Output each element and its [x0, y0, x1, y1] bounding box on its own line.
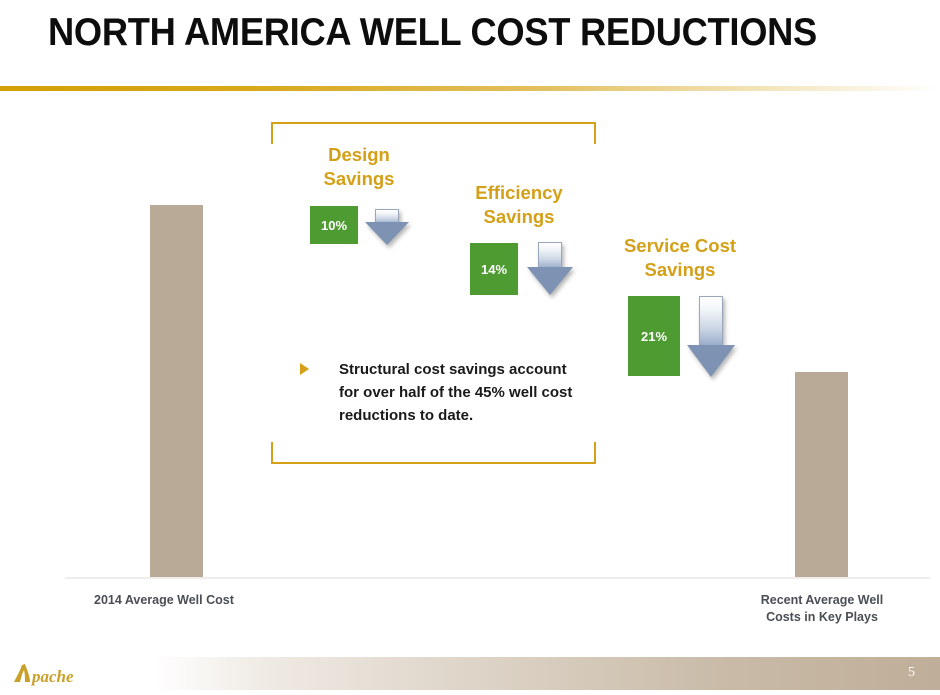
- design-savings-percent: 10%: [321, 218, 347, 233]
- bullet-item: Structural cost savings account for over…: [300, 358, 575, 427]
- bullet-text: Structural cost savings account for over…: [339, 358, 575, 427]
- design-savings-down-arrow-icon: [365, 209, 409, 245]
- axis-label-right-line2: Costs in Key Plays: [724, 609, 920, 626]
- efficiency-savings-title-line1: Efficiency: [468, 181, 570, 205]
- efficiency-savings-title: Efficiency Savings: [468, 181, 570, 229]
- arrow-head: [687, 345, 735, 377]
- axis-label-right: Recent Average Well Costs in Key Plays: [724, 592, 920, 626]
- arrow-head: [365, 222, 409, 245]
- design-savings-title: Design Savings: [313, 143, 405, 191]
- axis-label-left: 2014 Average Well Cost: [94, 592, 234, 609]
- efficiency-savings-percent-box: 14%: [470, 243, 518, 295]
- service-cost-savings-title-line1: Service Cost: [617, 234, 743, 258]
- bullet-triangle-icon: [300, 363, 309, 375]
- bar-2014-average-well-cost: [150, 205, 203, 577]
- bracket-bottom-line: [271, 462, 596, 464]
- efficiency-savings-percent: 14%: [481, 262, 507, 277]
- title-divider: [0, 86, 940, 91]
- service-cost-savings-percent-box: 21%: [628, 296, 680, 376]
- service-cost-savings-title: Service Cost Savings: [617, 234, 743, 282]
- design-savings-title-line1: Design: [313, 143, 405, 167]
- service-cost-savings-percent: 21%: [641, 329, 667, 344]
- bracket-tick-bottom-left: [271, 442, 273, 464]
- svg-text:pache: pache: [30, 667, 74, 686]
- page-title: NORTH AMERICA WELL COST REDUCTIONS: [48, 11, 817, 55]
- arrow-shaft: [538, 242, 562, 269]
- bracket-tick-top-left: [271, 122, 273, 144]
- design-savings-title-line2: Savings: [313, 167, 405, 191]
- bracket-tick-bottom-right: [594, 442, 596, 464]
- efficiency-savings-title-line2: Savings: [468, 205, 570, 229]
- bar-recent-average-well-cost: [795, 372, 848, 577]
- design-savings-percent-box: 10%: [310, 206, 358, 244]
- bracket-tick-top-right: [594, 122, 596, 144]
- bracket-top-line: [271, 122, 596, 124]
- efficiency-savings-down-arrow-icon: [527, 242, 573, 296]
- service-cost-savings-title-line2: Savings: [617, 258, 743, 282]
- axis-label-right-line1: Recent Average Well: [724, 592, 920, 609]
- page-number: 5: [908, 665, 915, 681]
- arrow-head: [527, 267, 573, 295]
- footer-bar: [155, 657, 940, 690]
- service-cost-savings-down-arrow-icon: [687, 296, 735, 378]
- chart-baseline: [65, 577, 930, 579]
- arrow-shaft: [699, 296, 723, 347]
- apache-logo: pache: [8, 660, 98, 690]
- slide-canvas: NORTH AMERICA WELL COST REDUCTIONS 2014 …: [0, 0, 940, 695]
